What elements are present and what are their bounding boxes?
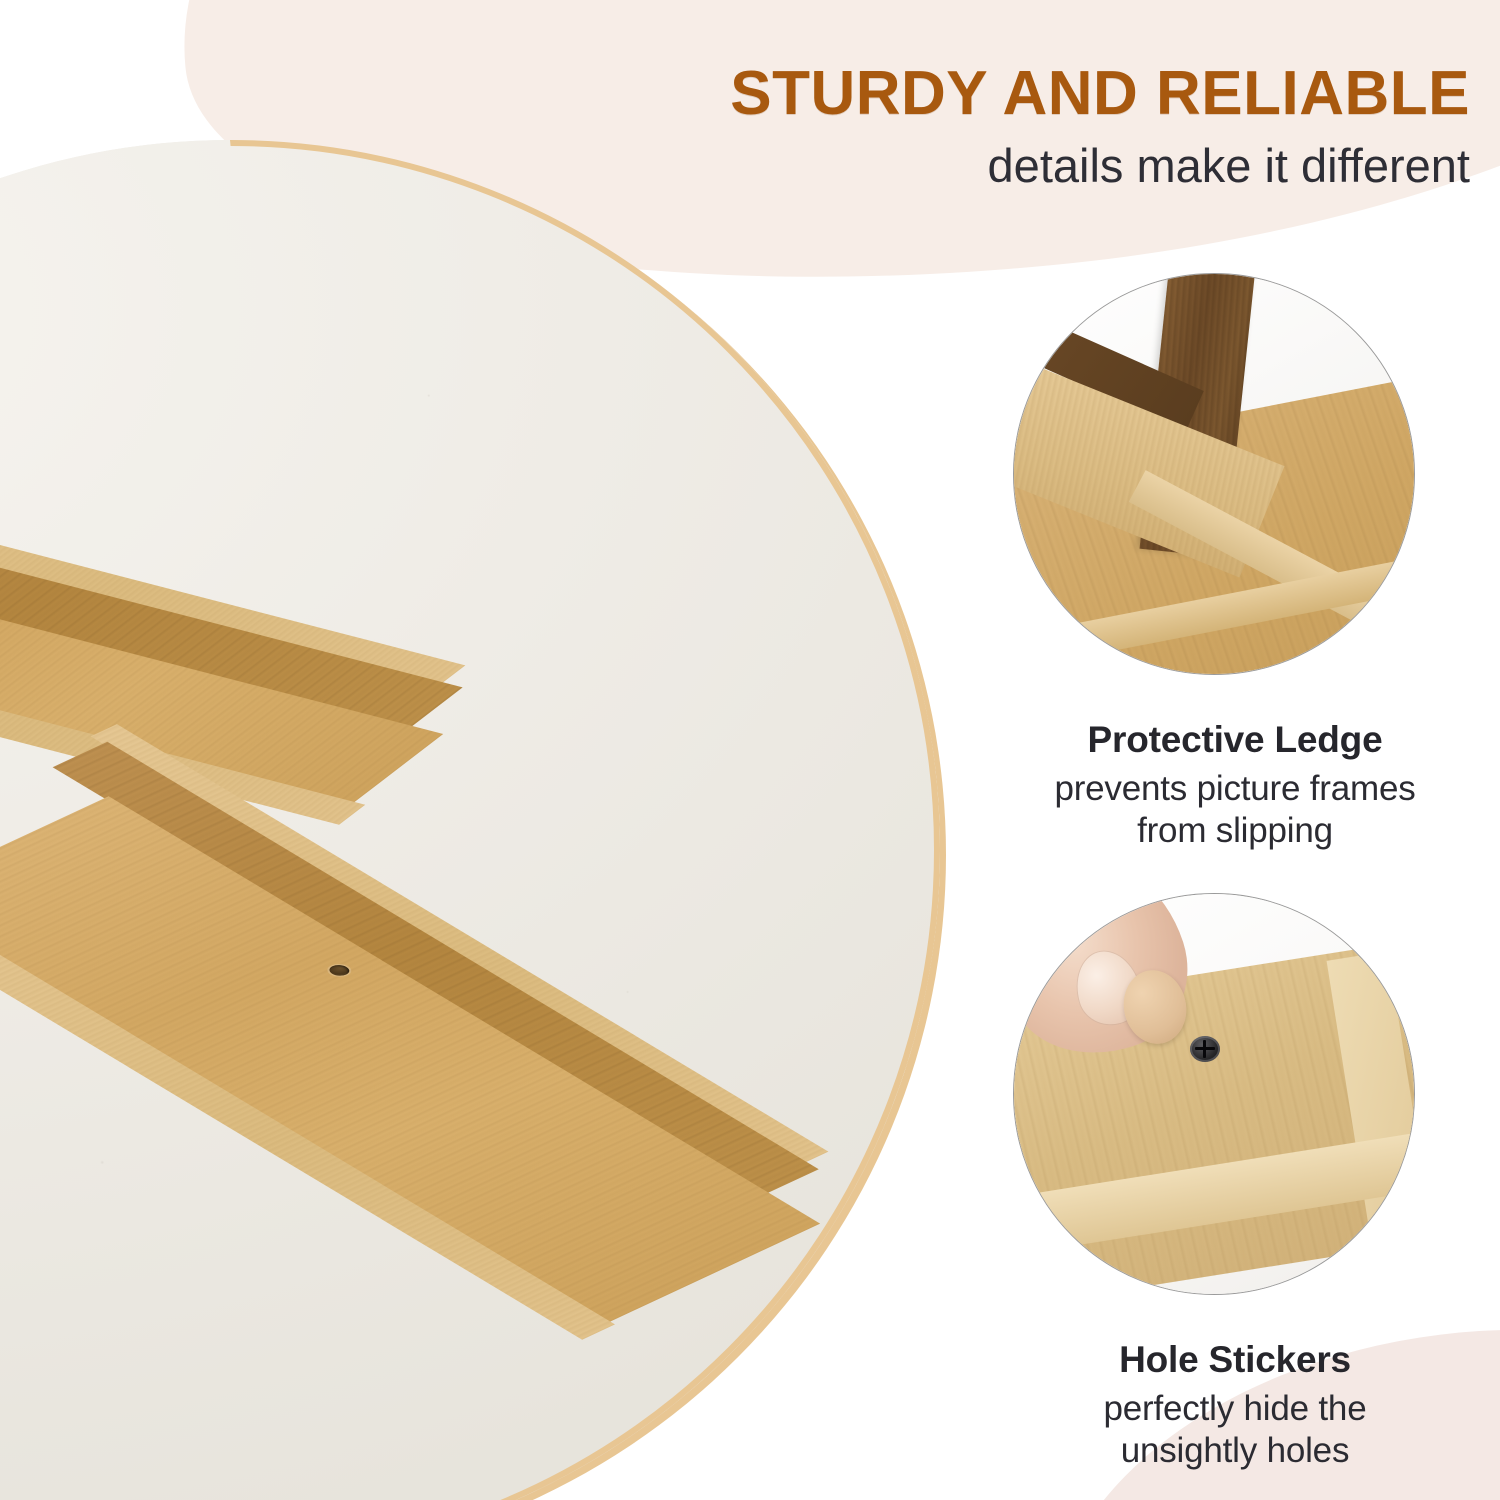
caption-line: perfectly hide the <box>1000 1388 1470 1430</box>
infographic-canvas: STURDY AND RELIABLE details make it diff… <box>0 0 1500 1500</box>
caption-body: prevents picture frames from slipping <box>1000 768 1470 852</box>
caption-line: prevents picture frames <box>1000 768 1470 810</box>
feature-inset-protective-ledge <box>1013 273 1415 675</box>
mounting-hole-icon <box>325 963 353 978</box>
hero-product-photo <box>0 140 940 1500</box>
caption-hole-stickers: Hole Stickers perfectly hide the unsight… <box>1000 1338 1470 1472</box>
page-title: STURDY AND RELIABLE <box>560 62 1470 126</box>
caption-title: Protective Ledge <box>1000 718 1470 762</box>
caption-title: Hole Stickers <box>1000 1338 1470 1382</box>
caption-body: perfectly hide the unsightly holes <box>1000 1388 1470 1472</box>
caption-line: unsightly holes <box>1000 1430 1470 1472</box>
headline-block: STURDY AND RELIABLE details make it diff… <box>560 62 1470 192</box>
caption-line: from slipping <box>1000 810 1470 852</box>
caption-protective-ledge: Protective Ledge prevents picture frames… <box>1000 718 1470 852</box>
phillips-screw-icon <box>1190 1036 1220 1062</box>
page-subtitle: details make it different <box>560 140 1470 192</box>
feature-inset-hole-stickers <box>1013 893 1415 1295</box>
